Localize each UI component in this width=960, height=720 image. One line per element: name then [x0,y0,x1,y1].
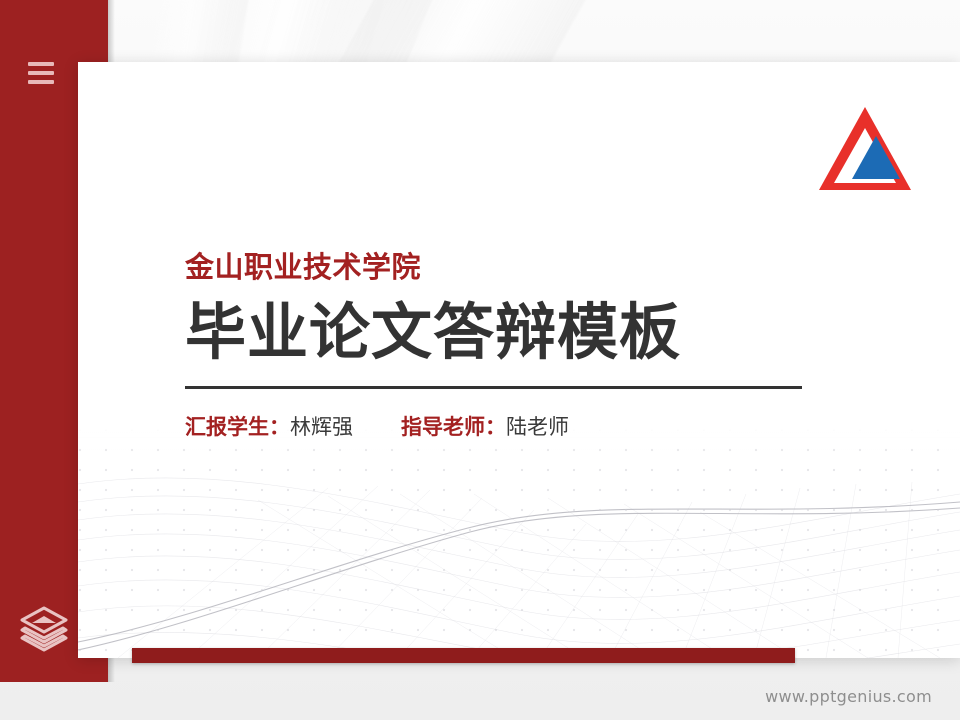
triangle-logo-icon [816,104,914,196]
hamburger-bar-1 [28,62,54,66]
slide-viewer: 金山职业技术学院 毕业论文答辩模板 汇报学生： 林辉强 指导老师： 陆老师 ww… [0,0,960,720]
byline: 汇报学生： 林辉强 指导老师： 陆老师 [185,415,825,440]
school-name: 金山职业技术学院 [185,252,825,284]
hamburger-bar-3 [28,80,54,84]
title-divider [185,386,802,389]
presenter-label: 汇报学生： [185,415,290,440]
dot-mesh-wave-decoration [78,428,960,658]
page-title: 毕业论文答辩模板 [185,300,825,366]
hamburger-menu-icon[interactable] [28,62,54,84]
slide-card: 金山职业技术学院 毕业论文答辩模板 汇报学生： 林辉强 指导老师： 陆老师 [78,62,960,658]
stacked-layers-icon[interactable] [18,602,70,654]
advisor-label: 指导老师： [401,415,506,440]
title-block: 金山职业技术学院 毕业论文答辩模板 汇报学生： 林辉强 指导老师： 陆老师 [185,252,825,440]
presenter-name: 林辉强 [290,415,353,440]
hamburger-bar-2 [28,71,54,75]
advisor-name: 陆老师 [506,415,569,440]
footer-url[interactable]: www.pptgenius.com [765,687,932,706]
accent-bar [132,648,795,663]
